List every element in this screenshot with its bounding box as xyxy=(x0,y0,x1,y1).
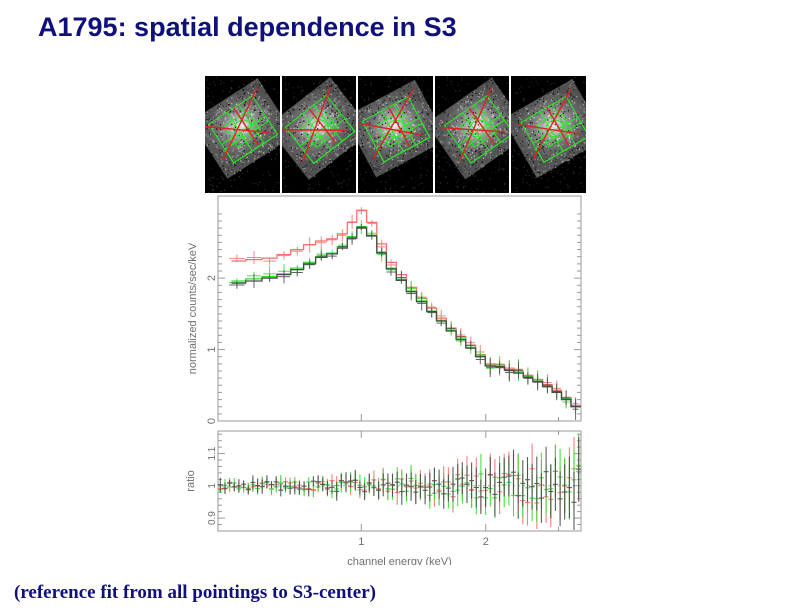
ccd-image-2 xyxy=(282,76,357,193)
ccd-image-5 xyxy=(511,76,586,193)
ccd-image-3 xyxy=(358,76,433,193)
svg-text:1: 1 xyxy=(207,483,218,489)
slide-canvas: A1795: spatial dependence in S3 12channe… xyxy=(0,0,792,612)
spectrum-figure: 12channel energy (keV)012normalized coun… xyxy=(182,193,586,565)
svg-text:channel energy (keV): channel energy (keV) xyxy=(347,556,452,565)
svg-text:0: 0 xyxy=(206,418,218,424)
slide-caption: (reference fit from all pointings to S3-… xyxy=(14,582,376,604)
svg-text:0.9: 0.9 xyxy=(207,511,218,525)
svg-text:2: 2 xyxy=(206,275,218,281)
page-title: A1795: spatial dependence in S3 xyxy=(38,12,457,43)
svg-text:1: 1 xyxy=(358,536,364,548)
svg-text:normalized counts/sec/keV: normalized counts/sec/keV xyxy=(187,242,199,374)
svg-text:1: 1 xyxy=(206,347,218,353)
ccd-image-1 xyxy=(205,76,280,193)
svg-text:ratio: ratio xyxy=(185,470,197,491)
svg-text:2: 2 xyxy=(483,536,489,548)
svg-text:1.1: 1.1 xyxy=(207,446,218,460)
ccd-image-strip xyxy=(205,76,586,193)
ccd-image-4 xyxy=(435,76,510,193)
